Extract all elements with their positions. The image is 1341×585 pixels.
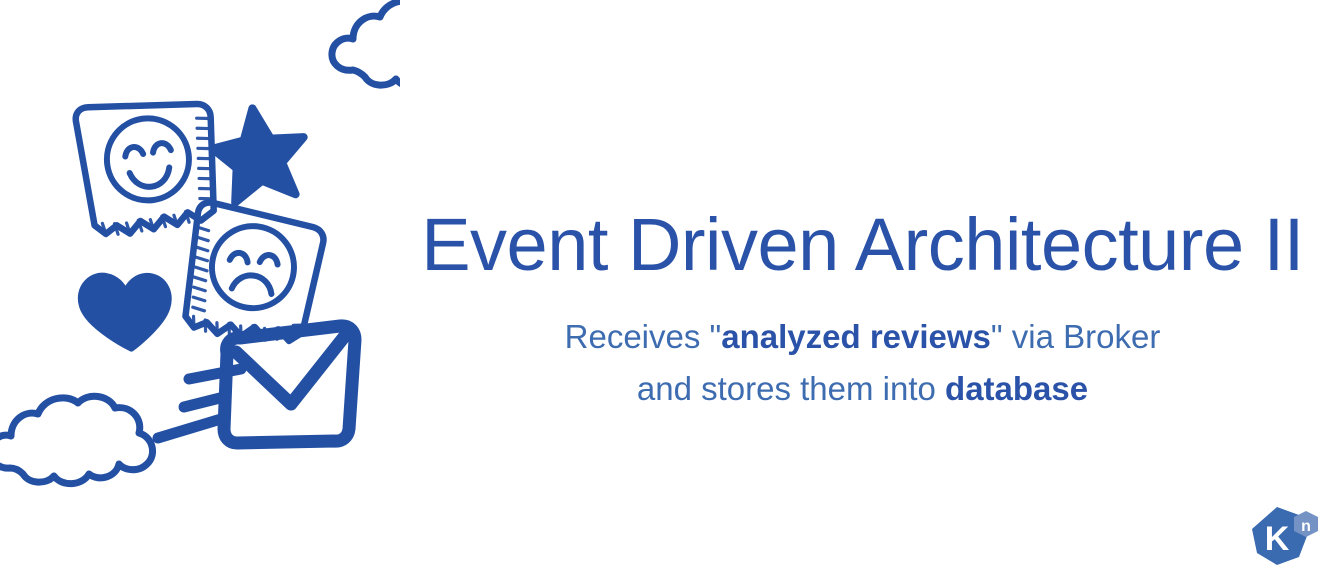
- page-title: Event Driven Architecture II: [395, 205, 1330, 285]
- subtitle-line-2-prefix: and stores them into: [637, 370, 945, 407]
- heart-icon: [78, 267, 175, 355]
- subtitle-line-1-prefix: Receives ": [565, 318, 722, 355]
- decorative-illustration: [0, 0, 400, 585]
- review-card-happy-icon: [74, 90, 225, 239]
- slide-canvas: Event Driven Architecture II Receives "a…: [0, 0, 1341, 585]
- star-icon: [209, 103, 310, 204]
- slide-subtitle: Receives "analyzed reviews" via Broker a…: [395, 311, 1330, 415]
- logo-mark-letter: K: [1265, 520, 1290, 558]
- subtitle-line-2-emphasis: database: [945, 370, 1088, 407]
- logo-badge-letter: n: [1301, 518, 1311, 535]
- subtitle-line-2: and stores them into database: [395, 363, 1330, 415]
- brand-logo: K n: [1243, 503, 1327, 575]
- subtitle-line-1-emphasis: analyzed reviews: [721, 318, 991, 355]
- cloud-bottom-left-icon: [0, 396, 153, 483]
- cloud-top-icon: [332, 0, 400, 87]
- subtitle-line-1-suffix: " via Broker: [991, 318, 1160, 355]
- envelope-icon: [158, 326, 355, 443]
- slide-text-block: Event Driven Architecture II Receives "a…: [395, 205, 1330, 415]
- subtitle-line-1: Receives "analyzed reviews" via Broker: [395, 311, 1330, 363]
- review-card-sad-icon: [182, 201, 327, 347]
